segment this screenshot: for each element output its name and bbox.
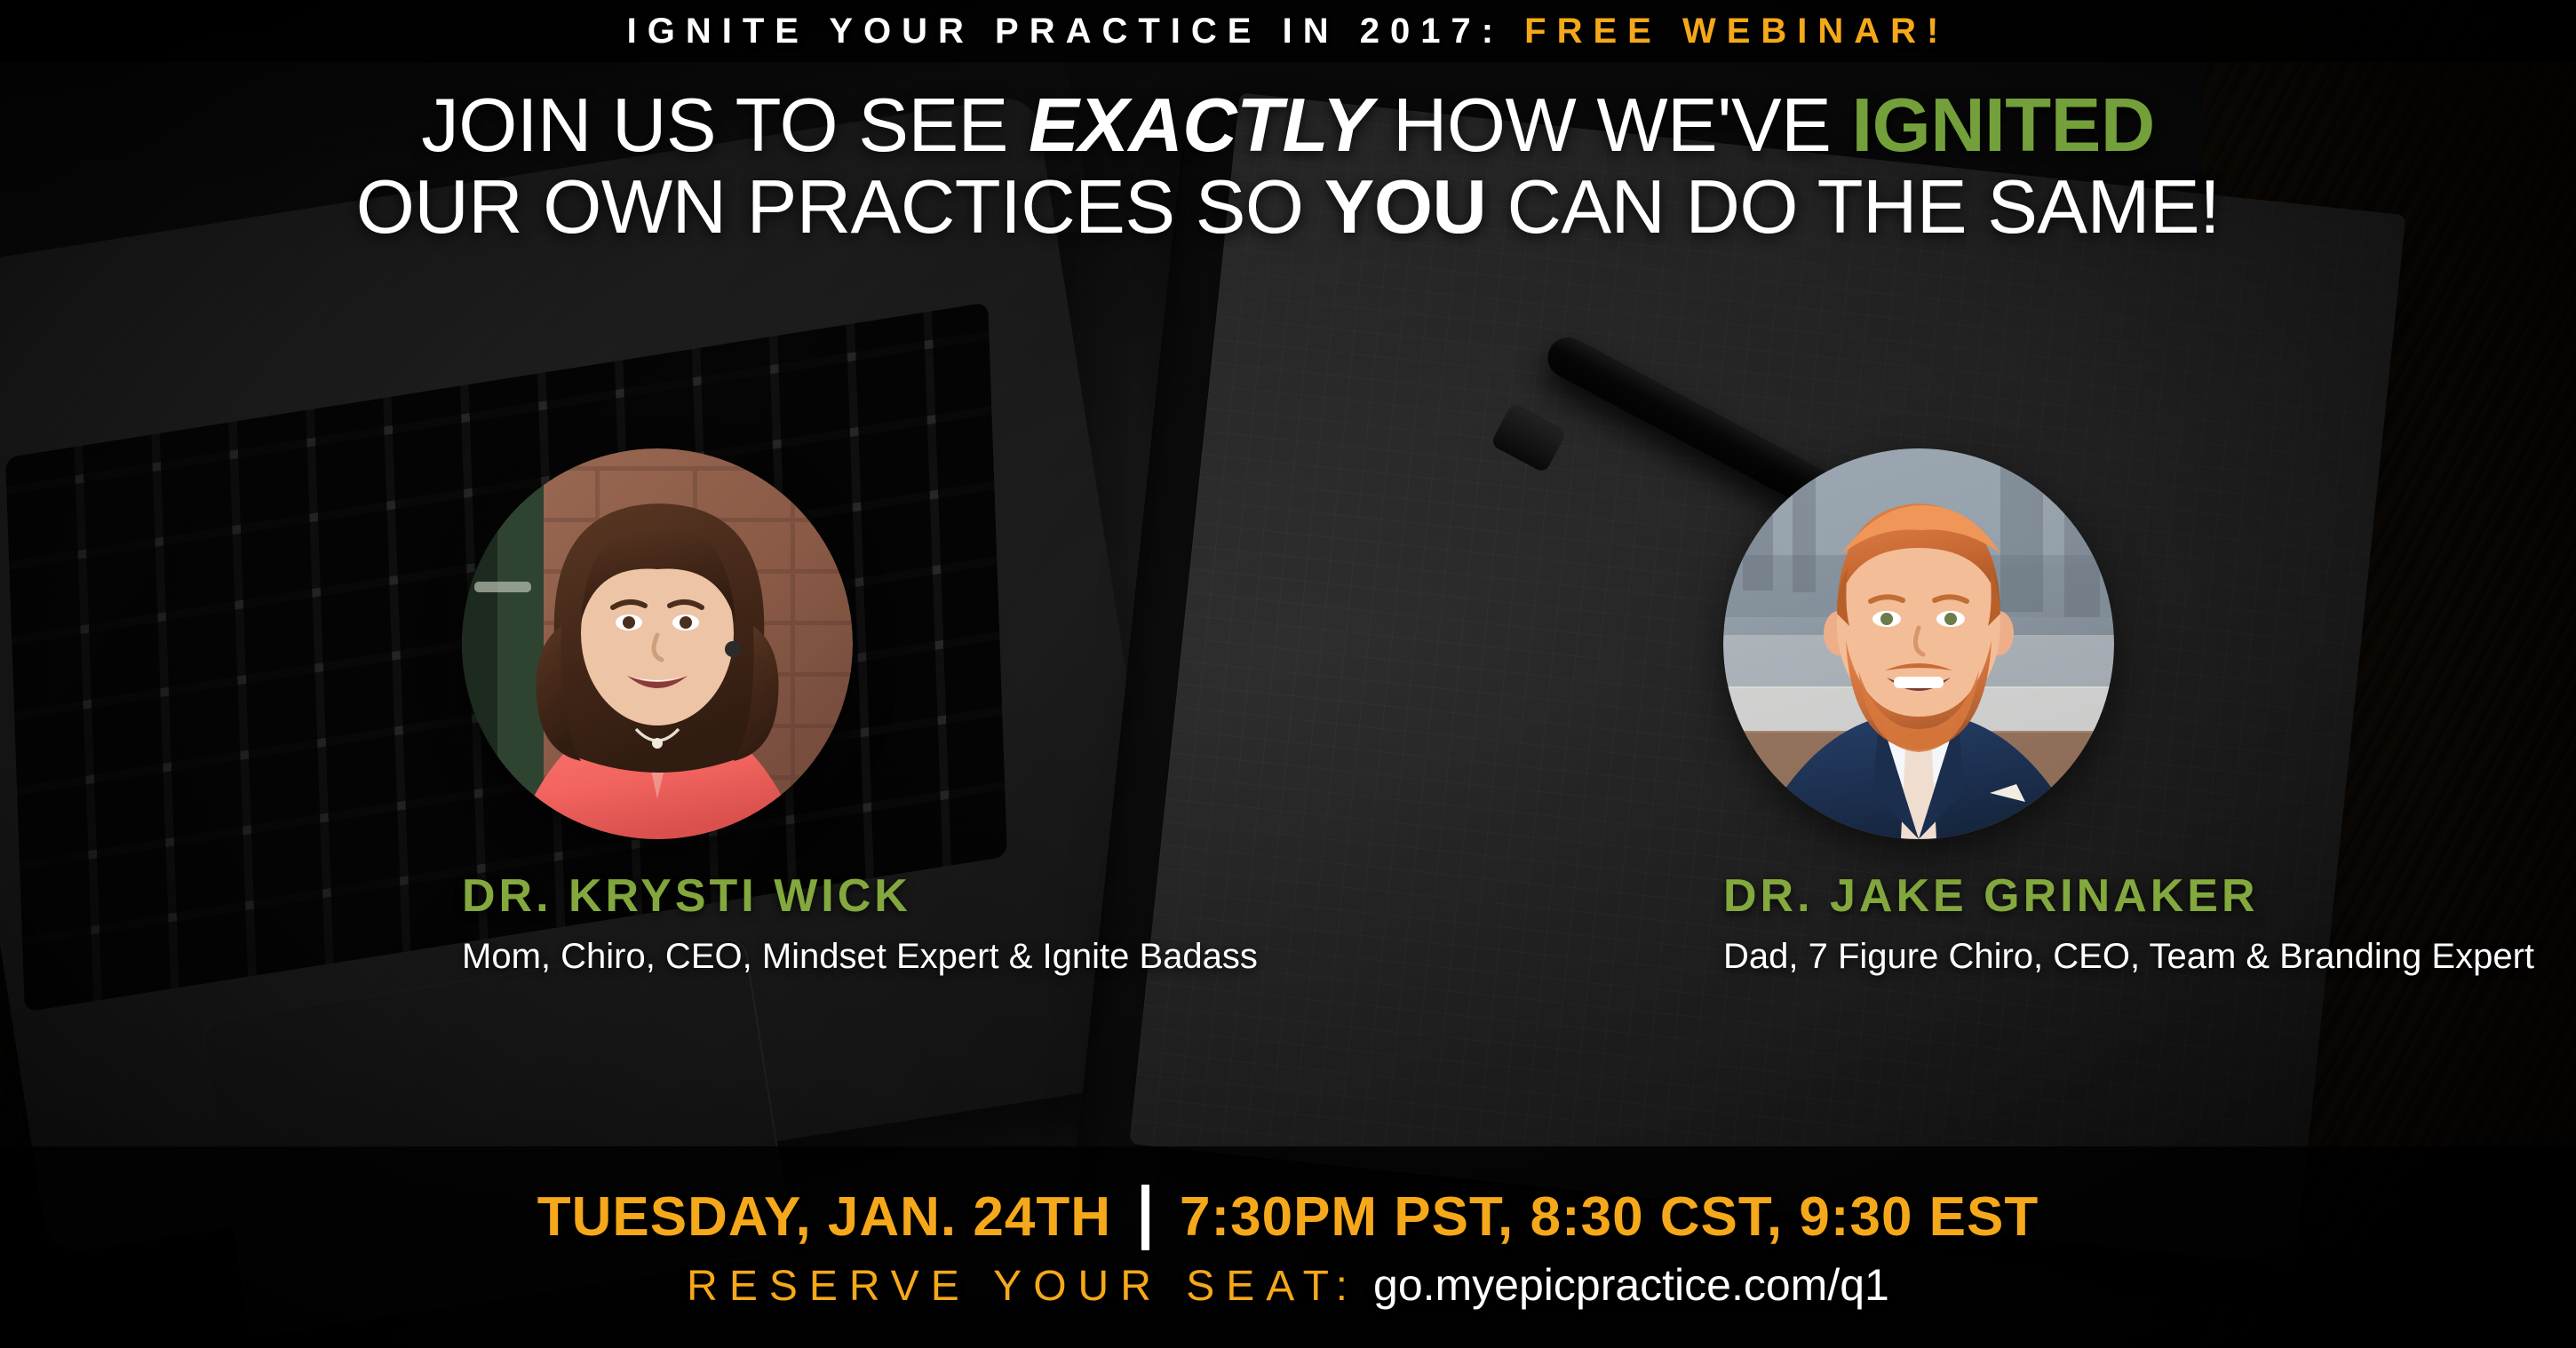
speakers-row: DR. KRYSTI WICK Mom, Chiro, CEO, Mindset… bbox=[0, 448, 2576, 977]
webinar-promo-banner: IGNITE YOUR PRACTICE IN 2017: FREE WEBIN… bbox=[0, 0, 2576, 1348]
headline-line1-emphasis: EXACTLY bbox=[1029, 83, 1372, 168]
datetime-separator bbox=[1141, 1185, 1149, 1250]
top-announcement-accent: FREE WEBINAR! bbox=[1524, 12, 1949, 51]
webinar-datetime: TUESDAY, JAN. 24TH 7:30PM PST, 8:30 CST,… bbox=[537, 1185, 2039, 1250]
headline-line-1: JOIN US TO SEE EXACTLY HOW WE'VE IGNITED bbox=[0, 85, 2576, 167]
headline-block: JOIN US TO SEE EXACTLY HOW WE'VE IGNITED… bbox=[0, 85, 2576, 249]
speaker-bio: Dad, 7 Figure Chiro, CEO, Team & Brandin… bbox=[1723, 937, 2114, 977]
headline-line2-part1: OUR OWN PRACTICES SO bbox=[356, 165, 1324, 250]
reserve-seat-label: RESERVE YOUR SEAT: bbox=[687, 1262, 1359, 1311]
headline-line-2: OUR OWN PRACTICES SO YOU CAN DO THE SAME… bbox=[0, 167, 2576, 249]
footer-cta-bar: TUESDAY, JAN. 24TH 7:30PM PST, 8:30 CST,… bbox=[0, 1146, 2576, 1348]
speaker-card-krysti-wick: DR. KRYSTI WICK Mom, Chiro, CEO, Mindset… bbox=[462, 448, 853, 977]
top-announcement-bar: IGNITE YOUR PRACTICE IN 2017: FREE WEBIN… bbox=[0, 0, 2576, 62]
speaker-name: DR. KRYSTI WICK bbox=[462, 869, 853, 923]
headline-line1-part2: HOW WE'VE bbox=[1372, 83, 1852, 168]
headline-line1-green: IGNITED bbox=[1852, 83, 2155, 168]
top-announcement-text: IGNITE YOUR PRACTICE IN 2017: FREE WEBIN… bbox=[627, 12, 1950, 52]
jake-grinaker-headshot bbox=[1723, 448, 2114, 839]
headline-line2-part2: CAN DO THE SAME! bbox=[1486, 165, 2220, 250]
speaker-bio: Mom, Chiro, CEO, Mindset Expert & Ignite… bbox=[462, 937, 853, 977]
headline-line1-part1: JOIN US TO SEE bbox=[421, 83, 1029, 168]
registration-url[interactable]: go.myepicpractice.com/q1 bbox=[1373, 1259, 1889, 1311]
reserve-seat-line: RESERVE YOUR SEAT: go.myepicpractice.com… bbox=[687, 1259, 1889, 1311]
krysti-wick-headshot bbox=[462, 448, 853, 839]
top-announcement-prefix: IGNITE YOUR PRACTICE IN 2017: bbox=[627, 12, 1504, 51]
speaker-name: DR. JAKE GRINAKER bbox=[1723, 869, 2114, 923]
speaker-card-jake-grinaker: DR. JAKE GRINAKER Dad, 7 Figure Chiro, C… bbox=[1723, 448, 2114, 977]
headline-line2-strong: YOU bbox=[1324, 165, 1487, 250]
webinar-date: TUESDAY, JAN. 24TH bbox=[537, 1185, 1111, 1249]
webinar-times: 7:30PM PST, 8:30 CST, 9:30 EST bbox=[1180, 1185, 2039, 1249]
